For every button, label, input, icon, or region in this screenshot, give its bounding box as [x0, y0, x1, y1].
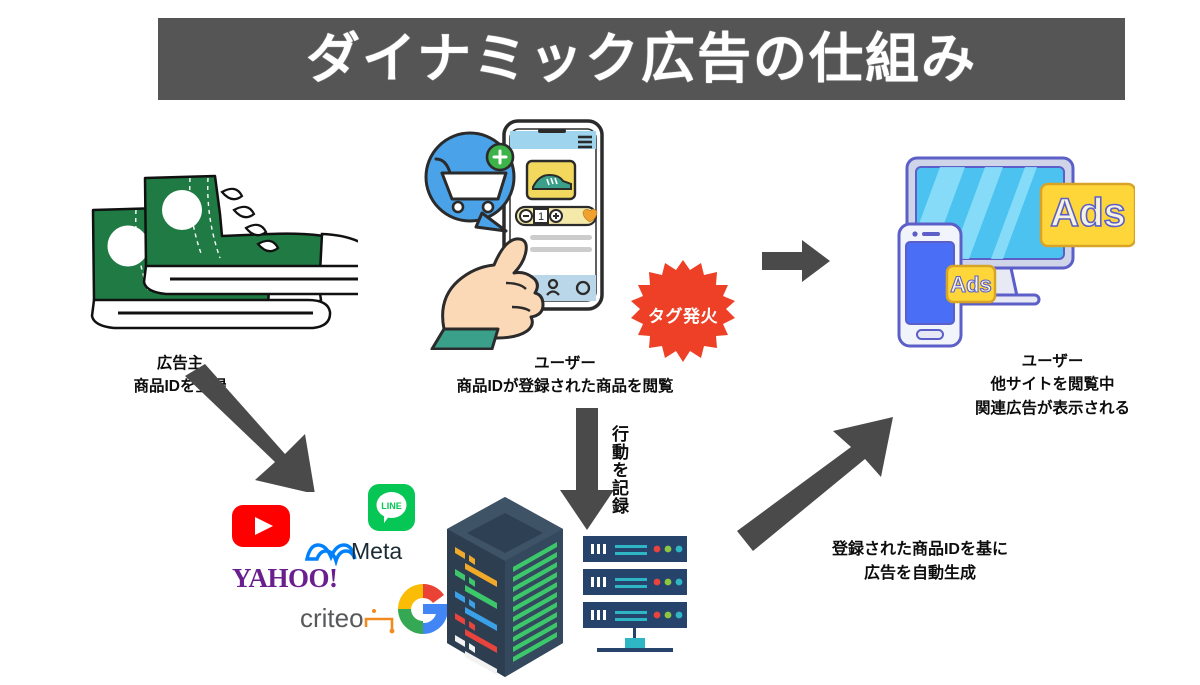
logo-criteo: criteo — [300, 605, 398, 635]
caption-user-browsing-line2: 商品IDが登録された商品を閲覧 — [400, 375, 730, 398]
logo-meta: Meta — [305, 538, 420, 566]
server-rack-illustration — [443, 495, 568, 680]
arrow-tag-to-ads — [762, 238, 832, 284]
caption-user-ads-line3: 関連広告が表示される — [930, 397, 1175, 420]
ads-card-label-large: Ads — [1050, 191, 1126, 235]
ads-card-label-small: Ads — [950, 272, 992, 297]
server-stack-illustration — [575, 532, 695, 657]
arrow-advertiser-to-platforms — [175, 362, 335, 492]
diagram-canvas: ダイナミック広告の仕組み — [0, 0, 1200, 679]
page-title: ダイナミック広告の仕組み — [306, 32, 977, 86]
logo-line: LINE — [368, 484, 415, 531]
logo-meta-label: Meta — [351, 540, 402, 563]
caption-user-ads-line2: 他サイトを閲覧中 — [930, 373, 1175, 396]
ads-display-illustration: Ads Ads — [885, 140, 1135, 355]
caption-auto-generate-line1: 登録された商品IDを基に — [770, 538, 1070, 562]
caption-record-behavior: 行動を記録 — [606, 425, 631, 515]
green-sneakers-illustration — [18, 150, 358, 350]
caption-user-ads-line1: ユーザー — [930, 350, 1175, 373]
caption-auto-generate-line2: 広告を自動生成 — [770, 562, 1070, 586]
quantity-value: 1 — [538, 211, 544, 223]
logo-yahoo-label: YAHOO! — [232, 565, 338, 592]
logo-line-label: LINE — [381, 501, 402, 511]
hand-tapping-phone-illustration: 1 — [420, 115, 620, 350]
logo-yahoo: YAHOO! — [232, 565, 338, 595]
tag-fire-badge: タグ発火 — [627, 258, 739, 370]
caption-auto-generate-ads: 登録された商品IDを基に 広告を自動生成 — [770, 538, 1070, 586]
caption-user-sees-ads: ユーザー 他サイトを閲覧中 関連広告が表示される — [930, 350, 1175, 420]
tag-fire-label: タグ発火 — [627, 258, 739, 370]
title-banner: ダイナミック広告の仕組み — [158, 18, 1125, 100]
arrow-server-to-ads — [735, 415, 905, 555]
logo-youtube — [232, 505, 290, 547]
